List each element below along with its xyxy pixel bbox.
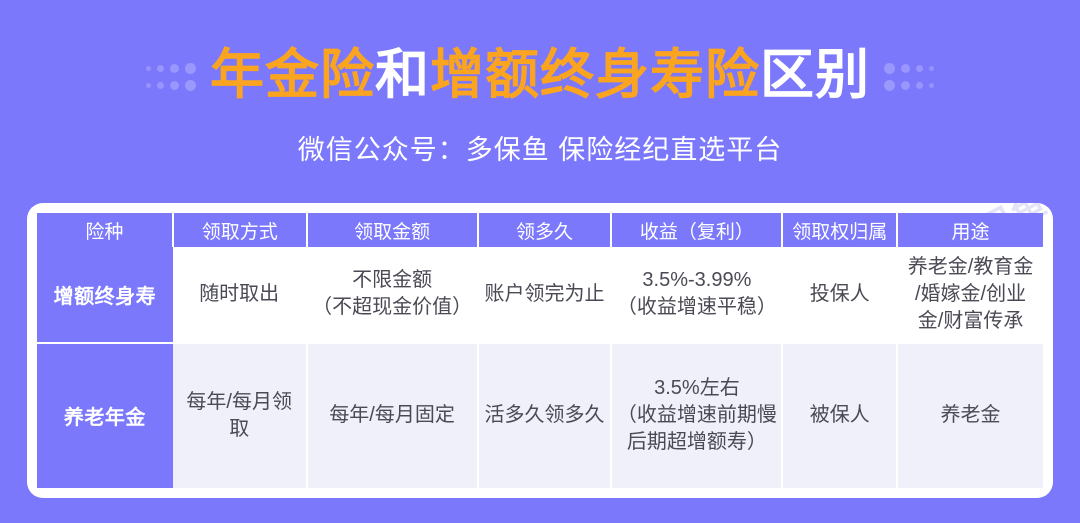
cell-line: （收益增速前期慢	[616, 402, 777, 429]
cell-line: 随时取出	[177, 281, 302, 308]
cell-line: 活多久领多久	[483, 402, 607, 429]
cell-return: 3.5%左右 （收益增速前期慢 后期超增额寿）	[611, 343, 782, 489]
decorative-dots-left	[146, 59, 196, 91]
cell-line: 每年/每月固定	[312, 402, 473, 429]
page-title: 年金险和增额终身寿险区别	[210, 48, 870, 102]
cell-duration: 账户领完为止	[478, 247, 612, 343]
column-header-amount: 领取金额	[307, 213, 478, 247]
column-header-usage: 用途	[897, 213, 1043, 247]
cell-return: 3.5%-3.99% （收益增速平稳）	[611, 247, 782, 343]
table-row: 增额终身寿 随时取出 不限金额 （不超现金价值） 账户领完为止 3.5%-3.9…	[37, 247, 1043, 343]
cell-usage: 养老金	[897, 343, 1043, 489]
cell-line: 不限金额	[312, 267, 473, 294]
table-header: 险种 领取方式 领取金额 领多久 收益（复利） 领取权归属 用途	[37, 213, 1043, 247]
cell-line: （收益增速平稳）	[616, 294, 777, 321]
cell-line: 金/财富传承	[902, 308, 1039, 335]
header-row: 险种 领取方式 领取金额 领多久 收益（复利） 领取权归属 用途	[37, 213, 1043, 247]
cell-ownership: 投保人	[782, 247, 897, 343]
subtitle: 微信公众号：多保鱼 保险经纪直选平台	[0, 128, 1080, 167]
title-row: 年金险和增额终身寿险区别	[0, 40, 1080, 110]
comparison-card: 多保鱼 多保鱼 多保鱼 多保鱼 险种 领取方式 领取金额 领多久	[27, 203, 1053, 498]
cell-usage: 养老金/教育金 /婚嫁金/创业 金/财富传承	[897, 247, 1043, 343]
cell-line: /婚嫁金/创业	[902, 281, 1039, 308]
cell-method: 随时取出	[173, 247, 307, 343]
cell-amount: 不限金额 （不超现金价值）	[307, 247, 478, 343]
cell-line: 账户领完为止	[483, 281, 607, 308]
cell-amount: 每年/每月固定	[307, 343, 478, 489]
cell-line: 每年/每月领取	[177, 389, 302, 443]
cell-duration: 活多久领多久	[478, 343, 612, 489]
column-header-duration: 领多久	[478, 213, 612, 247]
cell-line: 后期超增额寿）	[616, 429, 777, 456]
row-category-label: 养老年金	[37, 343, 173, 489]
row-category-label: 增额终身寿	[37, 247, 173, 343]
title-segment-1: 年金险	[210, 45, 375, 105]
table-row: 养老年金 每年/每月领取 每年/每月固定 活多久领多久 3.5%左右 （收益增速…	[37, 343, 1043, 489]
table-body: 增额终身寿 随时取出 不限金额 （不超现金价值） 账户领完为止 3.5%-3.9…	[37, 247, 1043, 488]
cell-line: 投保人	[787, 281, 892, 308]
poster-canvas: 年金险和增额终身寿险区别 微信公众号：多保鱼 保险经纪直选平台 多保鱼 多保鱼 …	[0, 0, 1080, 523]
column-header-method: 领取方式	[173, 213, 307, 247]
cell-line: 3.5%左右	[616, 375, 777, 402]
decorative-dots-right	[884, 59, 934, 91]
cell-line: 养老金	[902, 402, 1039, 429]
cell-line: 被保人	[787, 402, 892, 429]
title-segment-3: 增额终身寿险	[430, 45, 760, 105]
title-segment-4: 区别	[760, 45, 870, 105]
column-header-category: 险种	[37, 213, 173, 247]
column-header-ownership: 领取权归属	[782, 213, 897, 247]
comparison-table: 险种 领取方式 领取金额 领多久 收益（复利） 领取权归属 用途 增额终身寿 随…	[37, 213, 1043, 488]
cell-line: （不超现金价值）	[312, 294, 473, 321]
title-segment-2: 和	[375, 45, 430, 105]
cell-ownership: 被保人	[782, 343, 897, 489]
column-header-return: 收益（复利）	[611, 213, 782, 247]
cell-line: 养老金/教育金	[902, 254, 1039, 281]
cell-method: 每年/每月领取	[173, 343, 307, 489]
cell-line: 3.5%-3.99%	[616, 267, 777, 294]
